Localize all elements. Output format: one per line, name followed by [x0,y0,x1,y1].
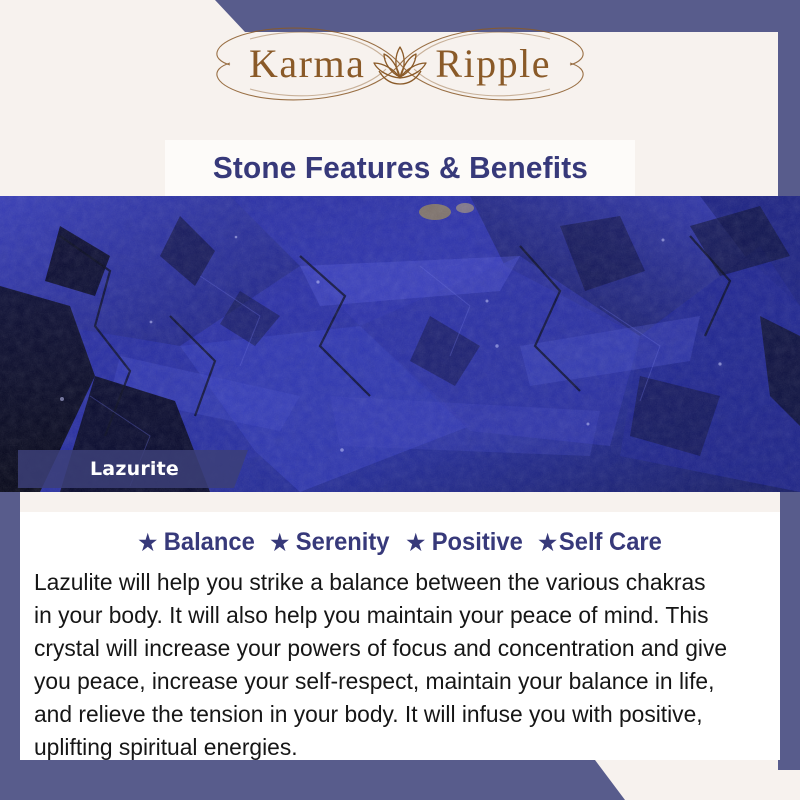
brand-name-right: Ripple [435,44,551,84]
brand-header: Karma Ripple [0,0,800,128]
page-title: Stone Features & Benefits [212,150,587,186]
frame-left-band [0,492,20,760]
star-icon: ★ [539,532,558,554]
benefit-label: Self Care [559,528,662,557]
content-top-strip [20,492,780,512]
star-icon: ★ [406,532,425,554]
stone-name-banner: Lazurite [18,450,248,488]
brand-logo: Karma Ripple [190,19,610,109]
benefit-label: Serenity [296,528,390,557]
stone-description: Lazulite will help you strike a balance … [34,566,729,764]
benefit-item-positive: ★ Positive [406,528,532,557]
benefit-label: Positive [431,528,522,557]
stone-name: Lazurite [90,458,179,480]
benefits-row: ★ Balance ★ Serenity ★ Positive ★ Self C… [20,528,780,557]
benefit-label: Balance [163,528,254,557]
benefit-item-self-care: ★ Self Care [539,528,663,557]
stone-photo-graphic [0,196,800,492]
lotus-icon [371,41,429,87]
frame-bottom-band [0,760,800,800]
page-title-plate: Stone Features & Benefits [165,140,635,196]
stone-photo [0,196,800,492]
brand-name-left: Karma [249,44,365,84]
benefit-item-balance: ★ Balance [138,528,264,557]
stone-info-card: Karma Ripple Stone Features & Benefits [0,0,800,800]
star-icon: ★ [138,532,157,554]
benefit-item-serenity: ★ Serenity [271,528,400,557]
star-icon: ★ [271,532,290,554]
